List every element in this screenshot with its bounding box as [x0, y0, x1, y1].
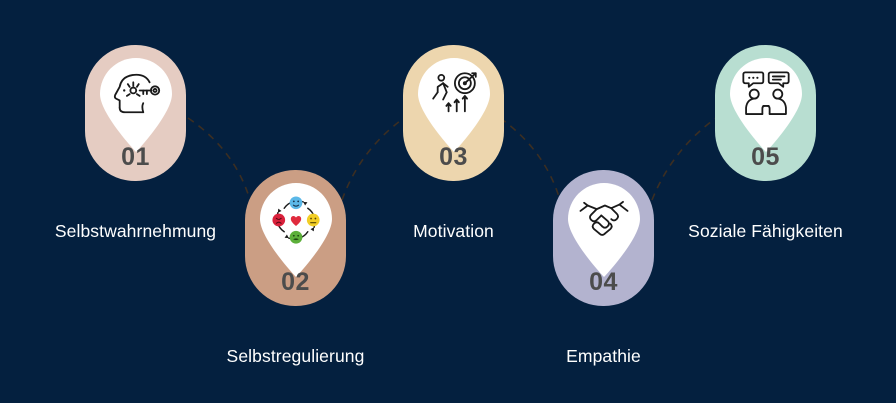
step-05-number: 05: [715, 145, 816, 170]
step-03-number: 03: [403, 145, 504, 170]
head-with-key-icon: [107, 66, 165, 124]
step-04-label: Empathie: [566, 348, 641, 366]
step-02-capsule[interactable]: 02: [245, 170, 346, 306]
two-people-talking-icon: [737, 66, 795, 124]
step-03-capsule[interactable]: 03: [403, 45, 504, 181]
connector-4-5: [652, 118, 716, 200]
step-05[interactable]: 05 Soziale Fähigkeiten: [715, 45, 816, 181]
step-01-label: Selbstwahrnehmung: [55, 223, 216, 241]
step-04-pin: [562, 179, 646, 277]
step-05-capsule[interactable]: 05: [715, 45, 816, 181]
connector-3-4: [500, 118, 560, 200]
step-01-pin: [94, 54, 178, 152]
step-01-capsule[interactable]: 01: [85, 45, 186, 181]
step-05-label: Soziale Fähigkeiten: [688, 223, 843, 241]
emotion-wheel-icon: [267, 191, 325, 249]
runner-target-arrows-icon: [425, 66, 483, 124]
step-04-capsule[interactable]: 04: [553, 170, 654, 306]
connector-1-2: [188, 118, 250, 200]
step-03-pin: [412, 54, 496, 152]
step-04-number: 04: [553, 270, 654, 295]
step-03-label: Motivation: [413, 223, 494, 241]
step-02-label: Selbstregulierung: [227, 348, 365, 366]
step-03[interactable]: 03 Motivation: [403, 45, 504, 181]
handshake-icon: [575, 191, 633, 249]
step-05-pin: [724, 54, 808, 152]
step-02-pin: [254, 179, 338, 277]
step-02[interactable]: 02 Selbstregulierung: [245, 170, 346, 306]
step-01-number: 01: [85, 145, 186, 170]
connector-2-3: [342, 118, 404, 200]
step-01[interactable]: 01 Selbstwahrnehmung: [85, 45, 186, 181]
step-04[interactable]: 04 Empathie: [553, 170, 654, 306]
emotional-intelligence-infographic: 01 Selbstwahrnehmung: [0, 0, 896, 403]
step-02-number: 02: [245, 270, 346, 295]
